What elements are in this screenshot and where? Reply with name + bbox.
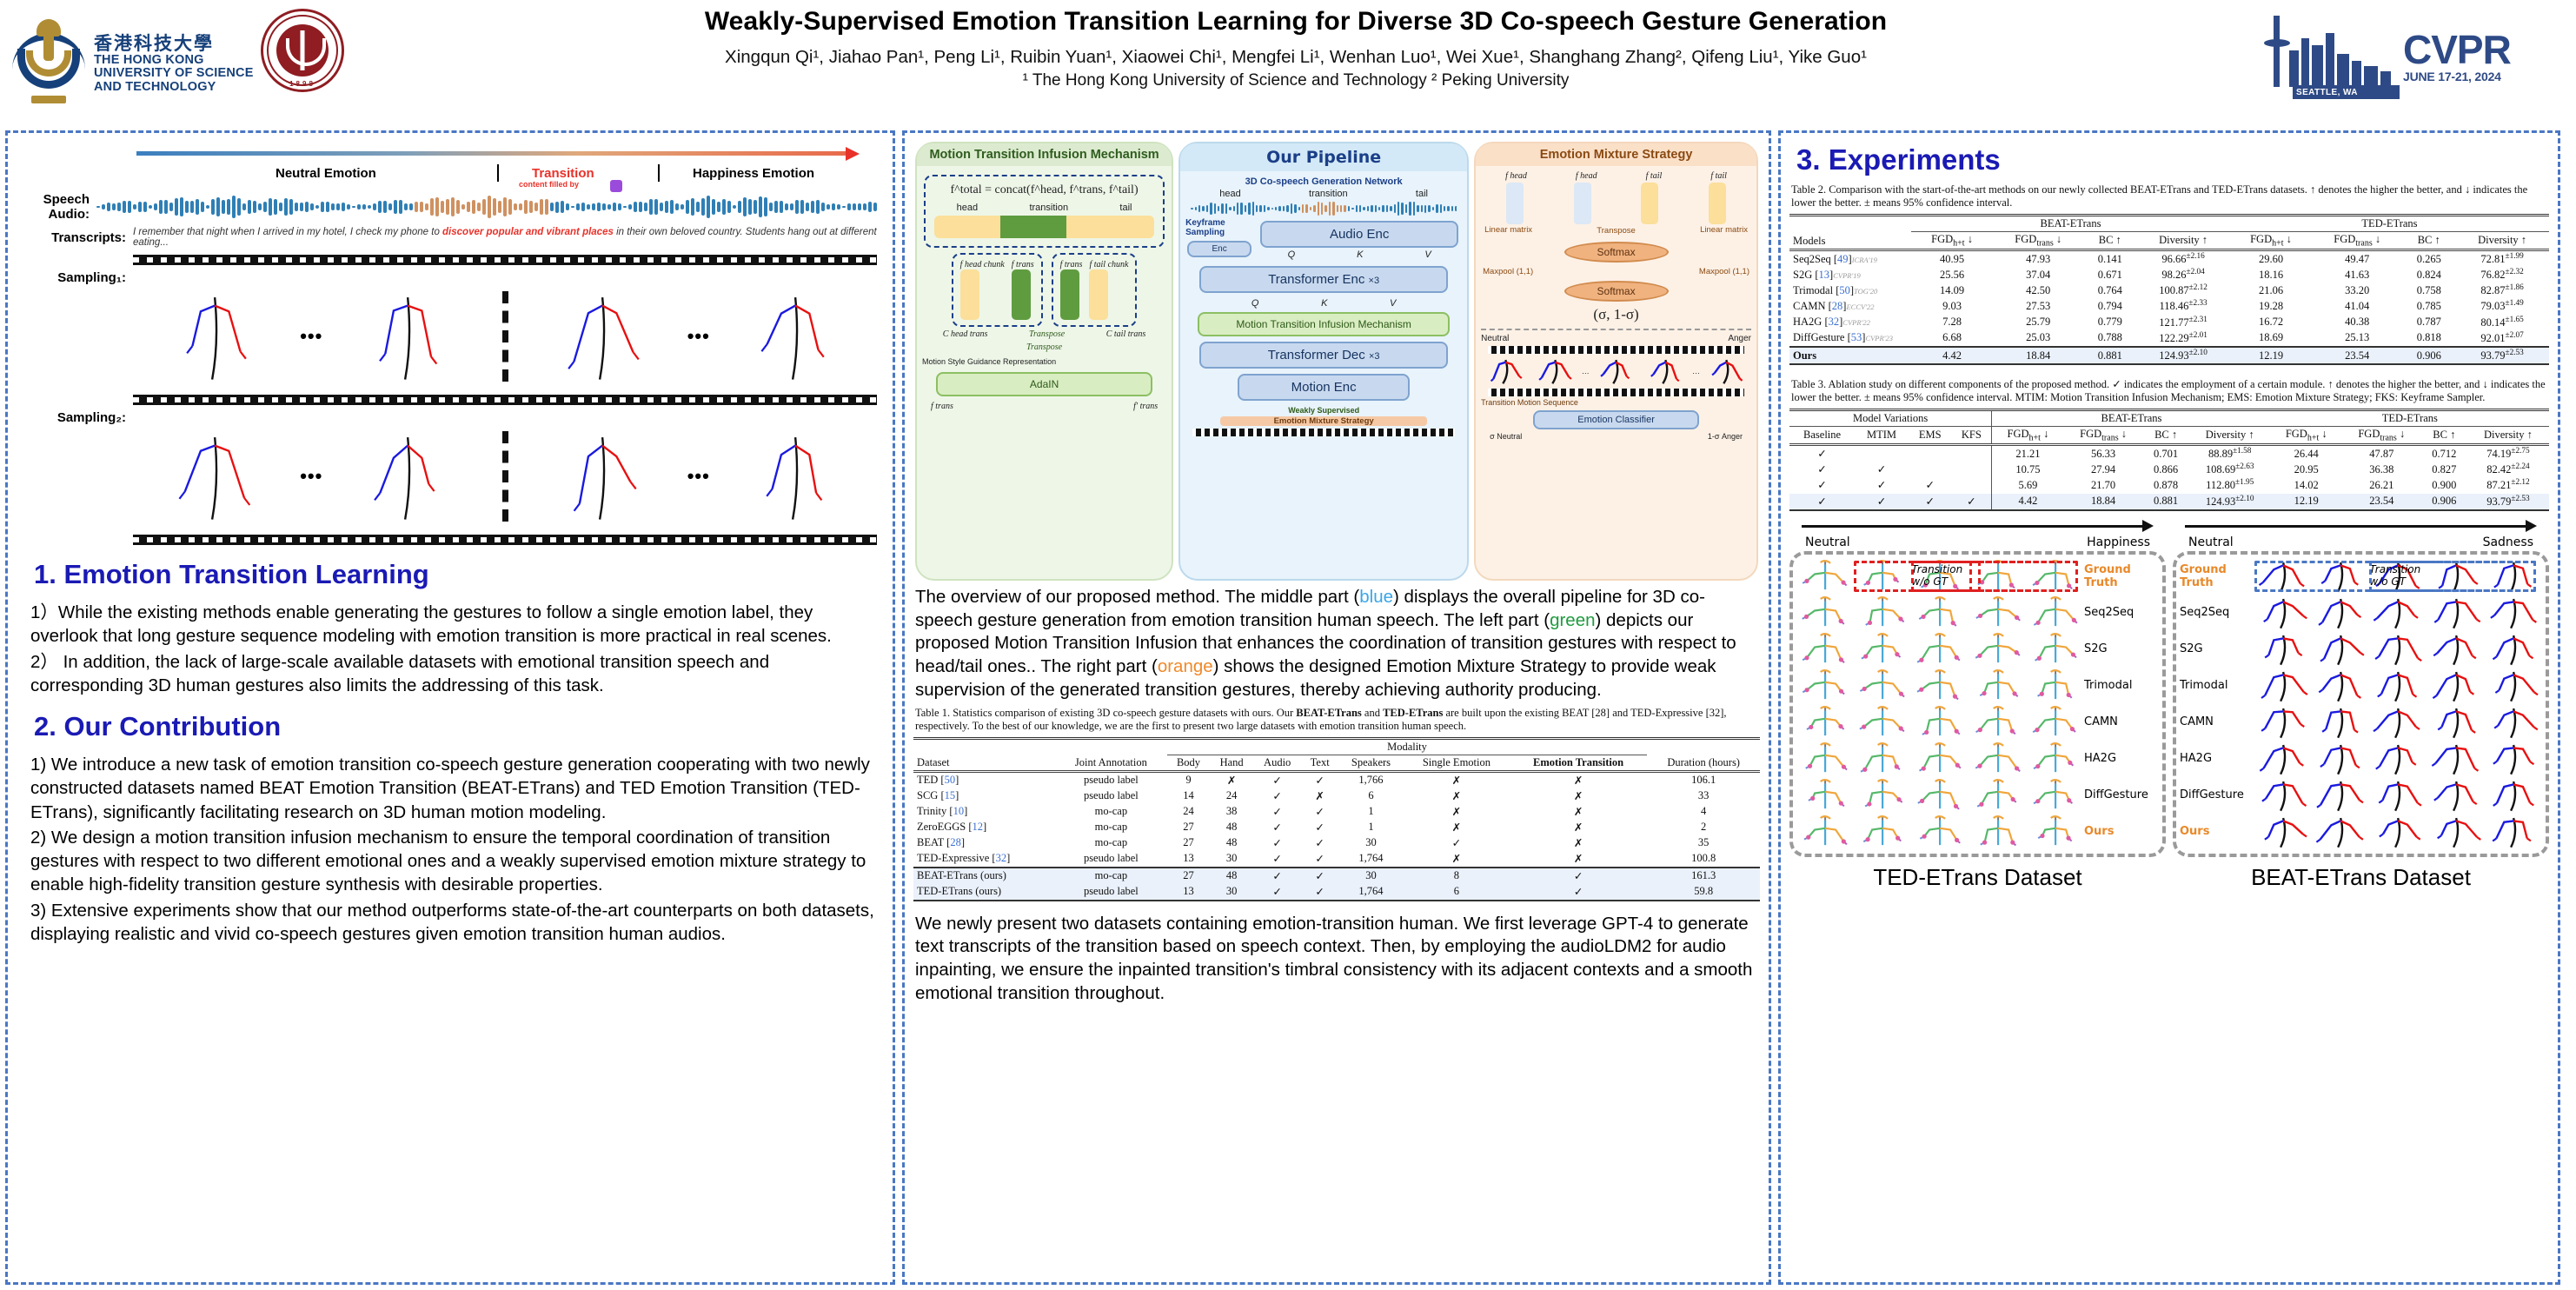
poster-header: 香港科技大學 THE HONG KONG UNIVERSITY OF SCIEN… [0,0,2576,135]
speech-waveform [96,196,877,218]
td-dataset-name: BEAT [28] [913,835,1055,851]
section-2-point-3: 3) Extensive experiments show that our m… [30,899,875,947]
td-value: 36.38 [2342,462,2421,477]
td-joint: mo-cap [1055,835,1167,851]
th-metric: BC ↑ [2143,426,2189,445]
qual-pose-cell [1911,704,1969,741]
qual-pose-cell [1854,595,1911,631]
td-trans: ✓ [1510,868,1647,884]
td-value: 10.75 [1992,462,2064,477]
td-value: 0.794 [2083,298,2136,314]
pipeline-waveform [1191,201,1457,216]
beat-start-emotion: Neutral [2188,535,2234,549]
td-trans: ✓ [1510,884,1647,901]
td-value: 93.79±2.53 [2455,347,2549,364]
transcript-text: I remember that night when I arrived in … [133,227,877,248]
th-metric: BC ↑ [2402,231,2455,250]
qual-pose-cell [2369,704,2427,741]
attn-v-label: V [1424,249,1431,260]
qual-row [2254,631,2542,668]
td-hand: 30 [1210,884,1253,901]
pku-founding-year: 1898 [261,80,344,88]
td-value: 33.20 [2312,283,2402,298]
emotion-timeline-arrow [136,147,860,166]
td-value: 122.29±2.01 [2136,330,2230,347]
segment-transition-label: transition [1029,203,1068,213]
qual-pose-cell [2254,631,2312,668]
qual-row [2254,668,2542,704]
td-speakers: 6 [1338,788,1404,804]
td-dur: 35 [1647,835,1760,851]
td-value: 0.758 [2402,283,2455,298]
th-ted-group: TED-ETrans [2271,409,2549,426]
cvpr-city-label: SEATTLE, WA [2296,88,2358,97]
ems-pose-row: …… [1481,356,1751,386]
td-single: 8 [1404,868,1510,884]
td-joint: mo-cap [1055,868,1167,884]
td-joint: mo-cap [1055,804,1167,820]
td-value: 72.81±1.99 [2455,250,2549,268]
td-flag [1855,445,1909,462]
td-value: 49.47 [2312,250,2402,268]
film-strip-mid [133,395,877,405]
ems-pose-frame [1591,356,1641,386]
td-trans: ✗ [1510,835,1647,851]
linear-matrix-label-left: Linear matrix [1484,226,1532,236]
td-flag: ✓ [1789,462,1855,477]
td-value: 40.38 [2312,315,2402,330]
td-speakers: 1 [1338,820,1404,835]
qual-pose-cell [2027,814,2084,850]
ellipsis-marker: ••• [296,465,326,488]
ems-pose-frame [1702,356,1751,386]
td-model-name: Seq2Seq [49]ICRA'19 [1789,250,1911,268]
dataset-statistics-table: DatasetJoint AnnotationModalityDuration … [913,737,1760,902]
td-body: 27 [1167,868,1211,884]
td-hand: 48 [1210,868,1253,884]
th-metric: FGDh+t ↓ [1992,426,2064,445]
td-joint: pseudo label [1055,788,1167,804]
td-text: ✓ [1301,804,1338,820]
ftail-label-1: f tail [1646,171,1663,181]
td-single: ✗ [1404,771,1510,788]
ellipsis-marker: ••• [684,325,714,348]
beat-end-emotion: Sadness [2483,535,2533,549]
qual-pose-cell [2027,777,2084,814]
qual-pose-cell [1969,595,2027,631]
td-model-name: CAMN [28]ECCV'22 [1789,298,1911,314]
ellipsis-marker: ••• [296,325,326,348]
th-metric: Diversity ↑ [2136,231,2230,250]
qual-method-label: GroundTruth [2180,558,2254,595]
qual-pose-cell [2427,631,2485,668]
pose-sequence-1: •••••• [133,285,877,388]
td-trans: ✗ [1510,788,1647,804]
section-1-title: 1. Emotion Transition Learning [34,559,882,590]
td-value: 12.19 [2271,494,2342,510]
beat-dataset-caption: BEAT-ETrans Dataset [2173,864,2549,891]
emotion-start-label: Neutral [1481,334,1509,343]
qual-method-label: CAMN [2180,704,2254,741]
c-head-trans-label: C head trans [943,329,988,339]
td-joint: pseudo label [1055,884,1167,901]
td-value: 0.824 [2402,267,2455,283]
qual-pose-cell [2312,704,2369,741]
td-joint: pseudo label [1055,771,1167,788]
th-sub: Speakers [1338,755,1404,771]
td-body: 9 [1167,771,1211,788]
sampling1-row: Sampling₁: [23,270,877,285]
motion-encoder-block: Motion Enc [1238,374,1410,401]
td-value: 29.60 [2230,250,2312,268]
pose-frame [714,425,877,528]
segment-tail-label: tail [1119,203,1132,213]
qual-pose-cell [1796,741,1854,777]
qual-row [2254,741,2542,777]
td-value: 0.906 [2421,494,2467,510]
ems-pose-frame [1641,356,1690,386]
beat-pose-grid: Transitionw/o GT [2254,558,2542,850]
th-metric: FGDh+t ↓ [1911,231,1993,250]
td-value: 41.63 [2312,267,2402,283]
td-value: 112.80±1.95 [2189,477,2271,493]
teaser-phase-labels: Neutral Emotion Transition content fille… [136,166,877,187]
th-metric: Diversity ↑ [2467,426,2549,445]
pipeline-panel-title: Our Pipeline [1180,143,1467,171]
td-model-name: HA2G [32]CVPR'22 [1789,315,1911,330]
td-dataset-name: TED-ETrans (ours) [913,884,1055,901]
td-text: ✓ [1301,884,1338,901]
qual-pose-cell [1969,741,2027,777]
ftrans-input-label: f trans [931,402,953,411]
td-value: 18.84 [1993,347,2083,364]
th-metric: FGDtrans ↓ [1993,231,2083,250]
td-value: 27.53 [1993,298,2083,314]
th-variations: Model Variations [1789,409,1992,426]
td-hand: 48 [1210,820,1253,835]
th-duration: Duration (hours) [1647,738,1760,771]
mtim-transpose-label: Transpose [1029,329,1065,339]
fhead-label-1: f head [1505,171,1527,181]
pose-frame [521,285,684,388]
qual-pose-cell [2485,595,2542,631]
td-body: 27 [1167,835,1211,851]
qual-pose-cell [2369,668,2427,704]
qual-method-label: Seq2Seq [2180,595,2254,631]
pose-frame [714,285,877,388]
qual-pose-cell [2312,631,2369,668]
td-body: 13 [1167,851,1211,868]
th-sub: Audio [1253,755,1302,771]
td-value: 56.33 [2064,445,2143,462]
qual-pose-cell [2427,814,2485,850]
td-value: 19.28 [2230,298,2312,314]
td-value: 0.785 [2402,298,2455,314]
label-neutral-emotion: Neutral Emotion [276,166,376,181]
mtim-segment-bar [934,216,1154,238]
td-dataset-name: SCG [15] [913,788,1055,804]
td-flag [1952,477,1992,493]
qual-method-label: Seq2Seq [2084,595,2159,631]
th-metric: BC ↑ [2083,231,2136,250]
td-value: 6.68 [1911,330,1993,347]
qual-pose-cell [2427,704,2485,741]
td-trans: ✗ [1510,804,1647,820]
qual-pose-cell [2369,741,2427,777]
ems-panel-title: Emotion Mixture Strategy [1476,143,1756,166]
td-audio: ✓ [1253,788,1302,804]
section-2-body: 1) We introduce a new task of emotion tr… [30,753,875,946]
qual-pose-cell [2485,704,2542,741]
fhead-chunk-label: f head chunk [960,260,1005,269]
td-hand: ✗ [1210,771,1253,788]
qual-pose-cell [1911,668,1969,704]
softmax-block-1: Softmax [1564,242,1669,263]
pose-frame [326,285,489,388]
hkust-logo: 香港科技大學 THE HONG KONG UNIVERSITY OF SCIEN… [0,0,261,122]
table3-caption: Table 3. Ablation study on different com… [1791,378,2547,405]
td-value: 21.06 [2230,283,2312,298]
qual-pose-cell [2369,814,2427,850]
qual-pose-cell [1969,777,2027,814]
td-value: 18.69 [2230,330,2312,347]
td-dur: 161.3 [1647,868,1760,884]
seattle-skyline-icon: SEATTLE, WA [2247,17,2400,99]
qual-pose-cell [2312,741,2369,777]
th-dataset: Dataset [913,738,1055,771]
qual-pose-cell [2427,668,2485,704]
qual-method-label: Trimodal [2084,668,2159,704]
td-flag: ✓ [1855,477,1909,493]
caption-green-word: green [1550,610,1595,630]
middle-column: Motion Transition Infusion Mechanism f^t… [902,130,1771,1285]
td-joint: mo-cap [1055,820,1167,835]
th-models: Models [1789,215,1911,250]
td-value: 4.42 [1911,347,1993,364]
th-metric: FGDtrans ↓ [2342,426,2421,445]
td-value: 4.42 [1992,494,2064,510]
transformer-encoder-block: Transformer Enc ×3 [1199,266,1448,293]
section-2-point-1: 1) We introduce a new task of emotion tr… [30,753,875,824]
td-value: 14.09 [1911,283,1993,298]
mtim-transpose-label-2: Transpose [922,342,1166,352]
qual-pose-cell [2369,777,2427,814]
td-speakers: 30 [1338,868,1404,884]
qual-method-label: S2G [2180,631,2254,668]
td-body: 24 [1167,804,1211,820]
td-value: 80.14±1.65 [2455,315,2549,330]
td-value: 27.94 [2064,462,2143,477]
label-happiness-emotion: Happiness Emotion [693,166,814,181]
td-value: 0.818 [2402,330,2455,347]
qual-pose-cell [2027,595,2084,631]
left-column: Neutral Emotion Transition content fille… [5,130,895,1285]
qual-pose-cell [2485,777,2542,814]
td-hand: 48 [1210,835,1253,851]
maxpool-label-left: Maxpool (1,1) [1483,267,1533,276]
comparison-table: ModelsBEAT-ETransTED-ETransFGDh+t ↓FGDtr… [1789,214,2549,367]
ellipsis-marker: … [1579,367,1591,376]
ems-transpose-label: Transpose [1597,226,1636,236]
qual-pose-cell [2427,777,2485,814]
attn-v-label-2: V [1390,298,1396,309]
td-flag: ✓ [1909,494,1952,510]
qual-method-label: CAMN [2084,704,2159,741]
ems-pose-frame [1530,356,1580,386]
td-value: 25.79 [1993,315,2083,330]
td-text: ✓ [1301,820,1338,835]
td-value: 0.881 [2083,347,2136,364]
qual-pose-cell [2027,668,2084,704]
td-value: 0.878 [2143,477,2189,493]
td-value: 87.21±2.12 [2467,477,2549,493]
mtim-panel-title: Motion Transition Infusion Mechanism [917,143,1172,166]
audio-head-label: head [1219,189,1240,199]
qual-pose-cell [1854,704,1911,741]
td-value: 88.89±1.58 [2189,445,2271,462]
ted-pose-grid: Transitionw/o GT [1796,558,2084,850]
th-variation-col: Baseline [1789,426,1855,445]
td-value: 79.03±1.49 [2455,298,2549,314]
td-value: 82.42±2.24 [2467,462,2549,477]
weakly-supervised-label: Weakly Supervised [1185,406,1462,415]
qual-pose-cell [2254,741,2312,777]
motion-style-guidance-label: Motion Style Guidance Representation [922,357,1166,367]
qual-row [2254,814,2542,850]
qual-method-label: GroundTruth [2084,558,2159,595]
cvpr-wordmark: CVPR [2403,31,2511,70]
qual-pose-cell [2254,704,2312,741]
td-value: 23.54 [2312,347,2402,364]
td-speakers: 30 [1338,835,1404,851]
qual-pose-cell [1854,777,1911,814]
td-value: 76.82±2.32 [2455,267,2549,283]
qual-row [1796,741,2084,777]
qual-pose-cell [1854,668,1911,704]
qual-method-label: Ours [2180,814,2254,850]
td-single: ✗ [1404,851,1510,868]
td-model-name: Trimodal [50]TOG'20 [1789,283,1911,298]
mtim-total-feature-box: f^total = concat(f^head, f^trans, f^tail… [924,175,1165,248]
linear-matrix-label-right: Linear matrix [1700,226,1748,236]
th-ted-group: TED-ETrans [2230,215,2549,231]
qual-pose-cell [2485,741,2542,777]
adain-block: AdaIN [936,372,1152,396]
highlight-box [1854,561,2078,592]
sigma-anger-label: 1-σ Anger [1708,432,1743,441]
qual-row [1796,631,2084,668]
td-audio: ✓ [1253,884,1302,901]
table1-caption: Table 1. Statistics comparison of existi… [915,707,1758,734]
td-flag: ✓ [1789,494,1855,510]
td-single: ✗ [1404,820,1510,835]
beat-method-labels: GroundTruthSeq2SeqS2GTrimodalCAMNHA2GDif… [2180,558,2254,850]
sampling1-label: Sampling₁: [23,270,133,285]
td-value: 7.28 [1911,315,1993,330]
qual-method-label: DiffGesture [2084,777,2159,814]
td-trans: ✗ [1510,820,1647,835]
maxpool-label-right: Maxpool (1,1) [1699,267,1749,276]
td-value: 25.13 [2312,330,2402,347]
qual-pose-cell [1911,741,1969,777]
caption-blue-word: blue [1359,587,1393,607]
pose-frame [133,285,296,388]
td-value: 47.93 [1993,250,2083,268]
ftrans-label-b: f trans [1060,260,1083,269]
td-audio: ✓ [1253,771,1302,788]
section-1-body: 1）While the existing methods enable gene… [30,601,875,697]
qual-pose-cell [2369,631,2427,668]
td-dur: 2 [1647,820,1760,835]
qual-pose-cell [1911,631,1969,668]
td-dataset-name: ZeroEGGS [12] [913,820,1055,835]
th-beat-group: BEAT-ETrans [1911,215,2230,231]
beat-emotion-arrow [2185,519,2537,535]
film-strip-bottom [133,535,877,545]
audio-tail-label: tail [1416,189,1428,199]
cvpr-dates-label: JUNE 17-21, 2024 [2403,70,2511,83]
qual-pose-cell [1796,777,1854,814]
qual-pose-cell [2312,668,2369,704]
td-value: 41.04 [2312,298,2402,314]
th-sub: Single Emotion [1404,755,1510,771]
transcripts-row: Transcripts: I remember that night when … [23,227,877,248]
td-text: ✓ [1301,868,1338,884]
td-value: 100.87±2.12 [2136,283,2230,298]
qual-pose-cell [1796,668,1854,704]
qual-pose-cell [1911,595,1969,631]
th-metric: FGDh+t ↓ [2271,426,2342,445]
transition-motion-seq-label: Transition Motion Sequence [1481,399,1751,408]
td-audio: ✓ [1253,820,1302,835]
section-1-point-1: 1）While the existing methods enable gene… [30,601,875,648]
td-dur: 106.1 [1647,771,1760,788]
c-tail-trans-label: C tail trans [1106,329,1146,339]
qual-pose-cell [2427,741,2485,777]
section-2-title: 2. Our Contribution [34,711,882,742]
sampling2-label: Sampling₂: [23,410,133,425]
td-dataset-name: TED-Expressive [32] [913,851,1055,868]
ellipsis-marker: ••• [684,465,714,488]
td-value: 96.66±2.16 [2136,250,2230,268]
pipeline-film-strip [1192,429,1455,436]
caption-orange-word: orange [1158,656,1213,676]
td-hand: 38 [1210,804,1253,820]
pose-sequence-2: •••••• [133,425,877,528]
td-dataset-name: TED [50] [913,771,1055,788]
th-metric: BC ↑ [2421,426,2467,445]
qual-pose-cell [2027,631,2084,668]
td-value: 25.56 [1911,267,1993,283]
qual-method-label: DiffGesture [2180,777,2254,814]
th-metric: FGDtrans ↓ [2312,231,2402,250]
mtim-panel: Motion Transition Infusion Mechanism f^t… [915,142,1173,581]
pipeline-panel: Our Pipeline 3D Co-speech Generation Net… [1178,142,1469,581]
td-value: 12.19 [2230,347,2312,364]
td-dataset-name: Trinity [10] [913,804,1055,820]
td-flag: ✓ [1952,494,1992,510]
hkust-name-en-3: AND TECHNOLOGY [94,81,254,94]
td-value: 98.26±2.04 [2136,267,2230,283]
th-metric: Diversity ↑ [2189,426,2271,445]
td-value: 124.93±2.10 [2136,347,2230,364]
td-single: 6 [1404,884,1510,901]
qual-method-label: S2G [2084,631,2159,668]
qual-pose-cell [1969,814,2027,850]
hkust-name-cn: 香港科技大學 [94,35,254,54]
teaser-figure: Neutral Emotion Transition content fille… [23,147,877,545]
qual-method-label: Ours [2084,814,2159,850]
